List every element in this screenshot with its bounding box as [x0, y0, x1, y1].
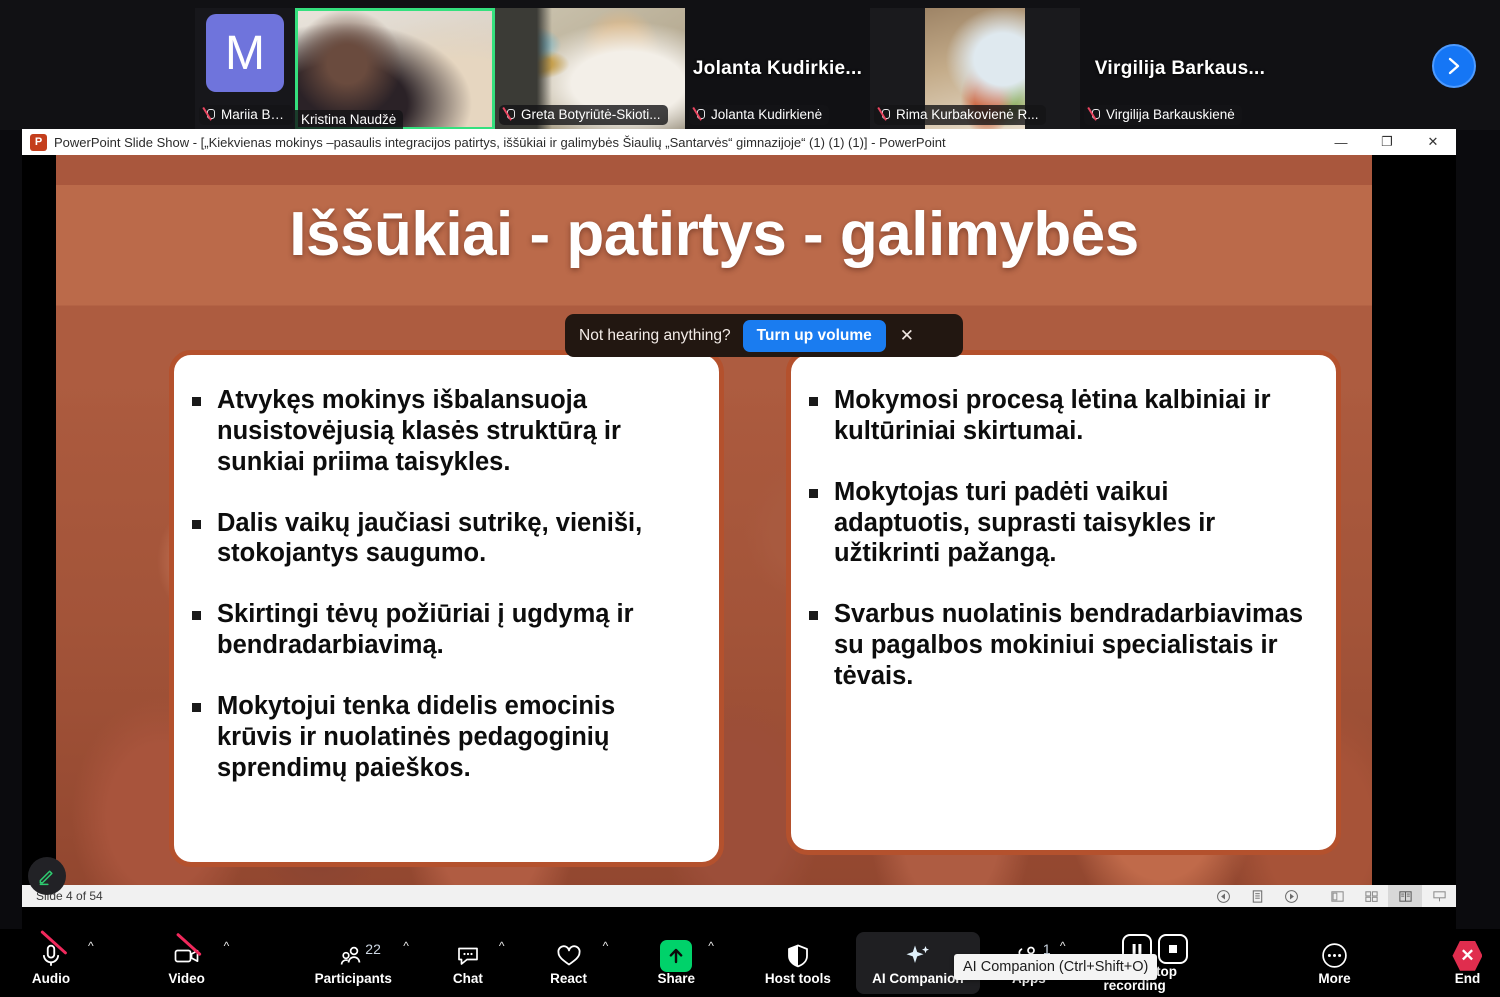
- close-button[interactable]: ✕: [1410, 129, 1456, 155]
- next-slide-button[interactable]: [1274, 885, 1308, 907]
- bullet-text: Skirtingi tėvų požiūriai į ugdymą ir ben…: [217, 599, 693, 661]
- normal-view-icon: [1330, 889, 1345, 904]
- close-icon[interactable]: ✕: [900, 326, 914, 346]
- participant-tile-jolanta-kudirkiene[interactable]: Jolanta Kudirkie... Jolanta Kudirkienė: [685, 8, 870, 130]
- chevron-right-icon: [1447, 57, 1461, 75]
- bullet-text: Mokytojui tenka didelis emocinis krūvis …: [217, 691, 693, 784]
- bullet-text: Atvykęs mokinys išbalansuoja nusistovėju…: [217, 385, 693, 478]
- audio-label: Audio: [32, 972, 70, 986]
- heart-icon: [555, 943, 583, 969]
- participant-name-badge: Rima Kurbakovienė R...: [874, 105, 1046, 125]
- zoom-control-toolbar: Audio ^ Video ^ 22 Pa: [0, 929, 1500, 997]
- participant-filmstrip: M Mariia Baranchykova Kristina Naudžė Gr…: [0, 0, 1500, 130]
- more-button[interactable]: More: [1299, 932, 1369, 994]
- list-item: Dalis vaikų jaučiasi sutrikę, vieniši, s…: [192, 508, 693, 570]
- avatar: M: [206, 14, 284, 92]
- previous-slide-icon: [1216, 889, 1231, 904]
- participant-tile-virgilija-barkauskiene[interactable]: Virgilija Barkaus... Virgilija Barkauski…: [1080, 8, 1280, 130]
- filmstrip-spacer: [0, 0, 195, 1]
- status-view-buttons: [1206, 885, 1456, 907]
- stop-recording-icon[interactable]: [1158, 934, 1188, 964]
- bullet-square-icon: [809, 397, 818, 406]
- participant-tile-rima-kurbakoviene[interactable]: Rima Kurbakovienė R...: [870, 8, 1080, 130]
- end-meeting-button[interactable]: ✕ End: [1437, 932, 1497, 994]
- chat-options-caret-icon[interactable]: ^: [499, 939, 505, 953]
- next-slide-icon: [1284, 889, 1299, 904]
- participants-group: 22 Participants ^: [303, 932, 409, 994]
- bullet-text: Mokytojas turi padėti vaikui adaptuotis,…: [834, 477, 1310, 570]
- microphone-muted-icon: [38, 943, 64, 969]
- window-controls: — ❐ ✕: [1318, 129, 1456, 155]
- participant-name-badge: Virgilija Barkauskienė: [1084, 105, 1242, 125]
- share-options-caret-icon[interactable]: ^: [708, 939, 714, 953]
- share-group: Share ^: [644, 932, 714, 994]
- notes-icon: [1250, 889, 1265, 904]
- share-screen-button[interactable]: Share: [644, 932, 708, 994]
- list-item: Skirtingi tėvų požiūriai į ugdymą ir ben…: [192, 599, 693, 661]
- bullet-text: Dalis vaikų jaučiasi sutrikę, vieniši, s…: [217, 508, 693, 570]
- list-item: Mokymosi procesą lėtina kalbiniai ir kul…: [809, 385, 1310, 447]
- video-label: Video: [168, 972, 205, 986]
- participant-display-name: Jolanta Kudirkie...: [685, 58, 870, 80]
- participant-name-badge: Mariia Baranchykova: [199, 105, 293, 125]
- participants-button[interactable]: 22 Participants: [303, 932, 403, 994]
- minimize-button[interactable]: —: [1318, 129, 1364, 155]
- pen-icon: [37, 866, 57, 886]
- participant-name: Virgilija Barkauskienė: [1106, 107, 1235, 122]
- next-participants-button[interactable]: [1432, 44, 1476, 88]
- slide-show-icon: [1432, 889, 1447, 904]
- slide-counter: Slide 4 of 54: [22, 889, 1206, 903]
- powerpoint-window: P PowerPoint Slide Show - [„Kiekvienas m…: [22, 129, 1456, 929]
- react-button[interactable]: React: [535, 932, 603, 994]
- participants-options-caret-icon[interactable]: ^: [403, 939, 409, 953]
- participant-name: Kristina Naudžė: [301, 112, 396, 127]
- left-bullet-list: Atvykęs mokinys išbalansuoja nusistovėju…: [192, 385, 693, 783]
- slide-show-view-button[interactable]: [1422, 885, 1456, 907]
- video-button[interactable]: Video: [150, 932, 224, 994]
- react-label: React: [550, 972, 587, 986]
- left-bullet-card: Atvykęs mokinys išbalansuoja nusistovėju…: [169, 350, 724, 867]
- chat-button[interactable]: Chat: [437, 932, 499, 994]
- muted-microphone-icon: [1090, 108, 1101, 122]
- muted-microphone-icon: [695, 108, 706, 122]
- slide-sorter-view-button[interactable]: [1354, 885, 1388, 907]
- audio-notification-banner: Not hearing anything? Turn up volume ✕: [565, 314, 963, 357]
- more-label: More: [1318, 972, 1350, 986]
- powerpoint-logo-icon: P: [30, 134, 47, 151]
- end-hexagon-icon: ✕: [1452, 941, 1482, 971]
- share-screen-icon: [660, 943, 692, 969]
- slide-title: Iššūkiai - patirtys - galimybės: [56, 199, 1372, 270]
- list-item: Mokytojas turi padėti vaikui adaptuotis,…: [809, 477, 1310, 570]
- video-options-caret-icon[interactable]: ^: [224, 939, 230, 953]
- camera-muted-icon: [173, 943, 201, 969]
- participant-name: Greta Botyriūtė-Skioti...: [521, 107, 661, 122]
- muted-microphone-icon: [505, 108, 516, 122]
- react-options-caret-icon[interactable]: ^: [603, 939, 609, 953]
- participant-tile-greta-botyriute-skioti[interactable]: Greta Botyriūtė-Skioti...: [495, 8, 685, 130]
- participant-name: Jolanta Kudirkienė: [711, 107, 822, 122]
- participant-name: Rima Kurbakovienė R...: [896, 107, 1039, 122]
- audio-options-caret-icon[interactable]: ^: [88, 939, 94, 953]
- participant-display-name: Virgilija Barkaus...: [1080, 58, 1280, 80]
- slide-sorter-icon: [1364, 889, 1379, 904]
- restore-button[interactable]: ❐: [1364, 129, 1410, 155]
- bullet-square-icon: [809, 611, 818, 620]
- participant-name: Mariia Baranchykova: [221, 107, 286, 122]
- previous-slide-button[interactable]: [1206, 885, 1240, 907]
- sparkle-icon: [903, 943, 933, 969]
- turn-up-volume-button[interactable]: Turn up volume: [743, 320, 886, 352]
- reading-view-button[interactable]: [1388, 885, 1422, 907]
- chat-label: Chat: [453, 972, 483, 986]
- bullet-square-icon: [809, 489, 818, 498]
- slide-canvas: Iššūkiai - patirtys - galimybės Atvykęs …: [56, 155, 1372, 907]
- powerpoint-title-bar: P PowerPoint Slide Show - [„Kiekvienas m…: [22, 129, 1456, 155]
- participant-tile-mariia-baranchykova[interactable]: M Mariia Baranchykova: [195, 8, 295, 130]
- participant-tile-kristina-naudze[interactable]: Kristina Naudžė: [295, 8, 495, 130]
- slide-show-stage[interactable]: Iššūkiai - patirtys - galimybės Atvykęs …: [22, 155, 1456, 907]
- audio-button[interactable]: Audio: [14, 932, 88, 994]
- window-title: PowerPoint Slide Show - [„Kiekvienas mok…: [54, 135, 1318, 150]
- chat-group: Chat ^: [437, 932, 505, 994]
- bullet-text: Svarbus nuolatinis bendradarbiavimas su …: [834, 599, 1310, 692]
- apps-options-caret-icon[interactable]: ^: [1060, 939, 1066, 953]
- muted-microphone-icon: [880, 108, 891, 122]
- annotation-pen-button[interactable]: [28, 857, 66, 895]
- normal-view-button[interactable]: [1320, 885, 1354, 907]
- participant-name-badge: Kristina Naudžė: [295, 110, 403, 130]
- slide-content: Atvykęs mokinys išbalansuoja nusistovėju…: [169, 350, 1359, 867]
- audio-banner-message: Not hearing anything?: [579, 327, 731, 345]
- participants-label: Participants: [315, 972, 392, 986]
- participants-icon: 22: [339, 943, 367, 969]
- end-label: End: [1455, 972, 1481, 986]
- bullet-text: Mokymosi procesą lėtina kalbiniai ir kul…: [834, 385, 1310, 447]
- list-item: Atvykęs mokinys išbalansuoja nusistovėju…: [192, 385, 693, 478]
- participants-count: 22: [365, 941, 381, 957]
- end-call-icon: ✕: [1452, 943, 1482, 969]
- ellipsis-icon: [1321, 943, 1348, 969]
- right-bullet-list: Mokymosi procesą lėtina kalbiniai ir kul…: [809, 385, 1310, 692]
- muted-microphone-icon: [205, 108, 216, 122]
- shield-icon: [786, 943, 810, 969]
- ai-companion-tooltip: AI Companion (Ctrl+Shift+O): [954, 954, 1157, 980]
- reading-view-icon: [1398, 889, 1413, 904]
- bullet-square-icon: [192, 520, 201, 529]
- zoom-meeting-window: M Mariia Baranchykova Kristina Naudžė Gr…: [0, 0, 1500, 997]
- right-bullet-card: Mokymosi procesą lėtina kalbiniai ir kul…: [786, 350, 1341, 855]
- host-tools-label: Host tools: [765, 972, 831, 986]
- bullet-square-icon: [192, 397, 201, 406]
- audio-group: Audio ^: [14, 932, 94, 994]
- slide-notes-button[interactable]: [1240, 885, 1274, 907]
- react-group: React ^: [535, 932, 609, 994]
- ai-companion-label: AI Companion: [872, 972, 964, 986]
- list-item: Svarbus nuolatinis bendradarbiavimas su …: [809, 599, 1310, 692]
- powerpoint-status-bar: Slide 4 of 54: [22, 885, 1456, 907]
- video-group: Video ^: [150, 932, 230, 994]
- host-tools-button[interactable]: Host tools: [750, 932, 846, 994]
- participant-name-badge: Jolanta Kudirkienė: [689, 105, 829, 125]
- bullet-square-icon: [192, 611, 201, 620]
- bullet-square-icon: [192, 703, 201, 712]
- list-item: Mokytojui tenka didelis emocinis krūvis …: [192, 691, 693, 784]
- share-label: Share: [657, 972, 695, 986]
- participant-name-badge: Greta Botyriūtė-Skioti...: [499, 105, 668, 125]
- chat-icon: [455, 943, 481, 969]
